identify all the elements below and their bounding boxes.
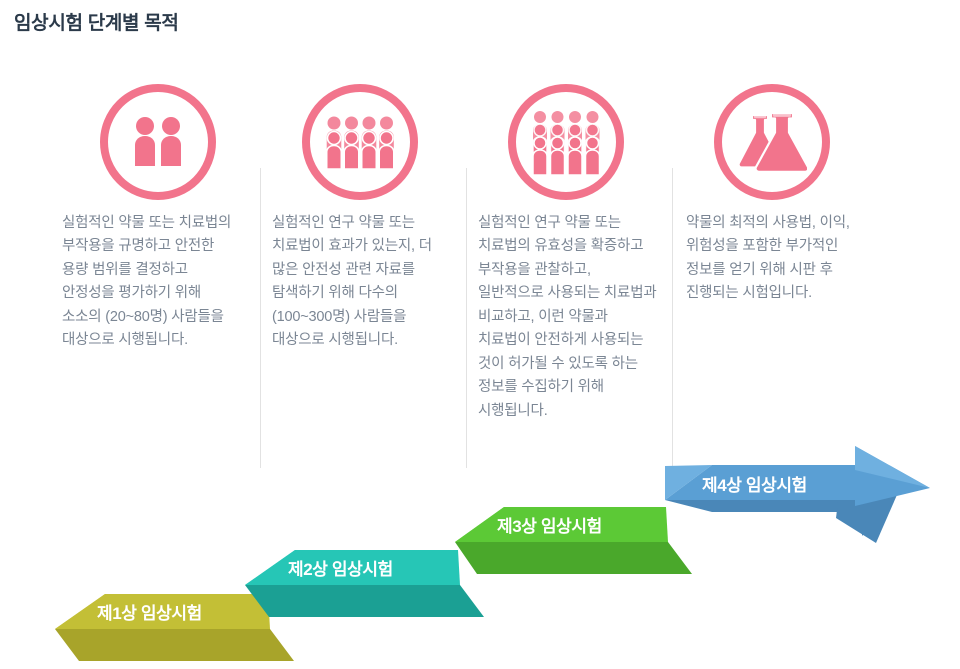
large-crowd-icon	[530, 109, 602, 175]
phase-4-description: 약물의 최적의 사용법, 이익, 위험성을 포함한 부가적인 정보를 얻기 위해…	[686, 212, 868, 306]
flasks-icon	[737, 111, 807, 173]
step-phase-2-label: 제2상 임상시험	[288, 559, 393, 579]
phase-2-description: 실험적인 연구 약물 또는 치료법이 효과가 있는지, 더 많은 안전성 관련 …	[272, 212, 452, 353]
small-group-icon	[324, 113, 396, 171]
phase-2-icon-circle	[302, 84, 418, 200]
step-phase-2-side	[245, 585, 484, 617]
step-phase-4-label: 제4상 임상시험	[702, 475, 807, 495]
column-divider-3	[672, 168, 673, 468]
step-phase-1-side	[55, 629, 294, 661]
column-divider-1	[260, 168, 261, 468]
step-phase-3-side	[455, 542, 692, 574]
phase-3-icon-circle	[508, 84, 624, 200]
step-phase-4[interactable]: 제4상 임상시험	[665, 446, 930, 543]
column-divider-2	[466, 168, 467, 468]
step-phase-1-label: 제1상 임상시험	[97, 603, 202, 623]
step-phase-3-label: 제3상 임상시험	[497, 516, 602, 536]
phase-3-description: 실험적인 연구 약물 또는 치료법의 유효성을 확증하고 부작용을 관찰하고, …	[478, 212, 660, 423]
clinical-trial-phases-infographic: 임상시험 단계별 목적	[0, 0, 960, 669]
two-people-icon	[129, 114, 187, 170]
page-title: 임상시험 단계별 목적	[14, 8, 179, 35]
phase-1-icon-circle	[100, 84, 216, 200]
step-phase-3[interactable]: 제3상 임상시험	[455, 507, 692, 574]
phase-1-description: 실험적인 약물 또는 치료법의 부작용을 규명하고 안전한 용량 범위를 결정하…	[62, 212, 242, 353]
step-phase-1[interactable]: 제1상 임상시험	[55, 594, 294, 661]
step-phase-2[interactable]: 제2상 임상시험	[245, 550, 484, 617]
phase-4-icon-circle	[714, 84, 830, 200]
